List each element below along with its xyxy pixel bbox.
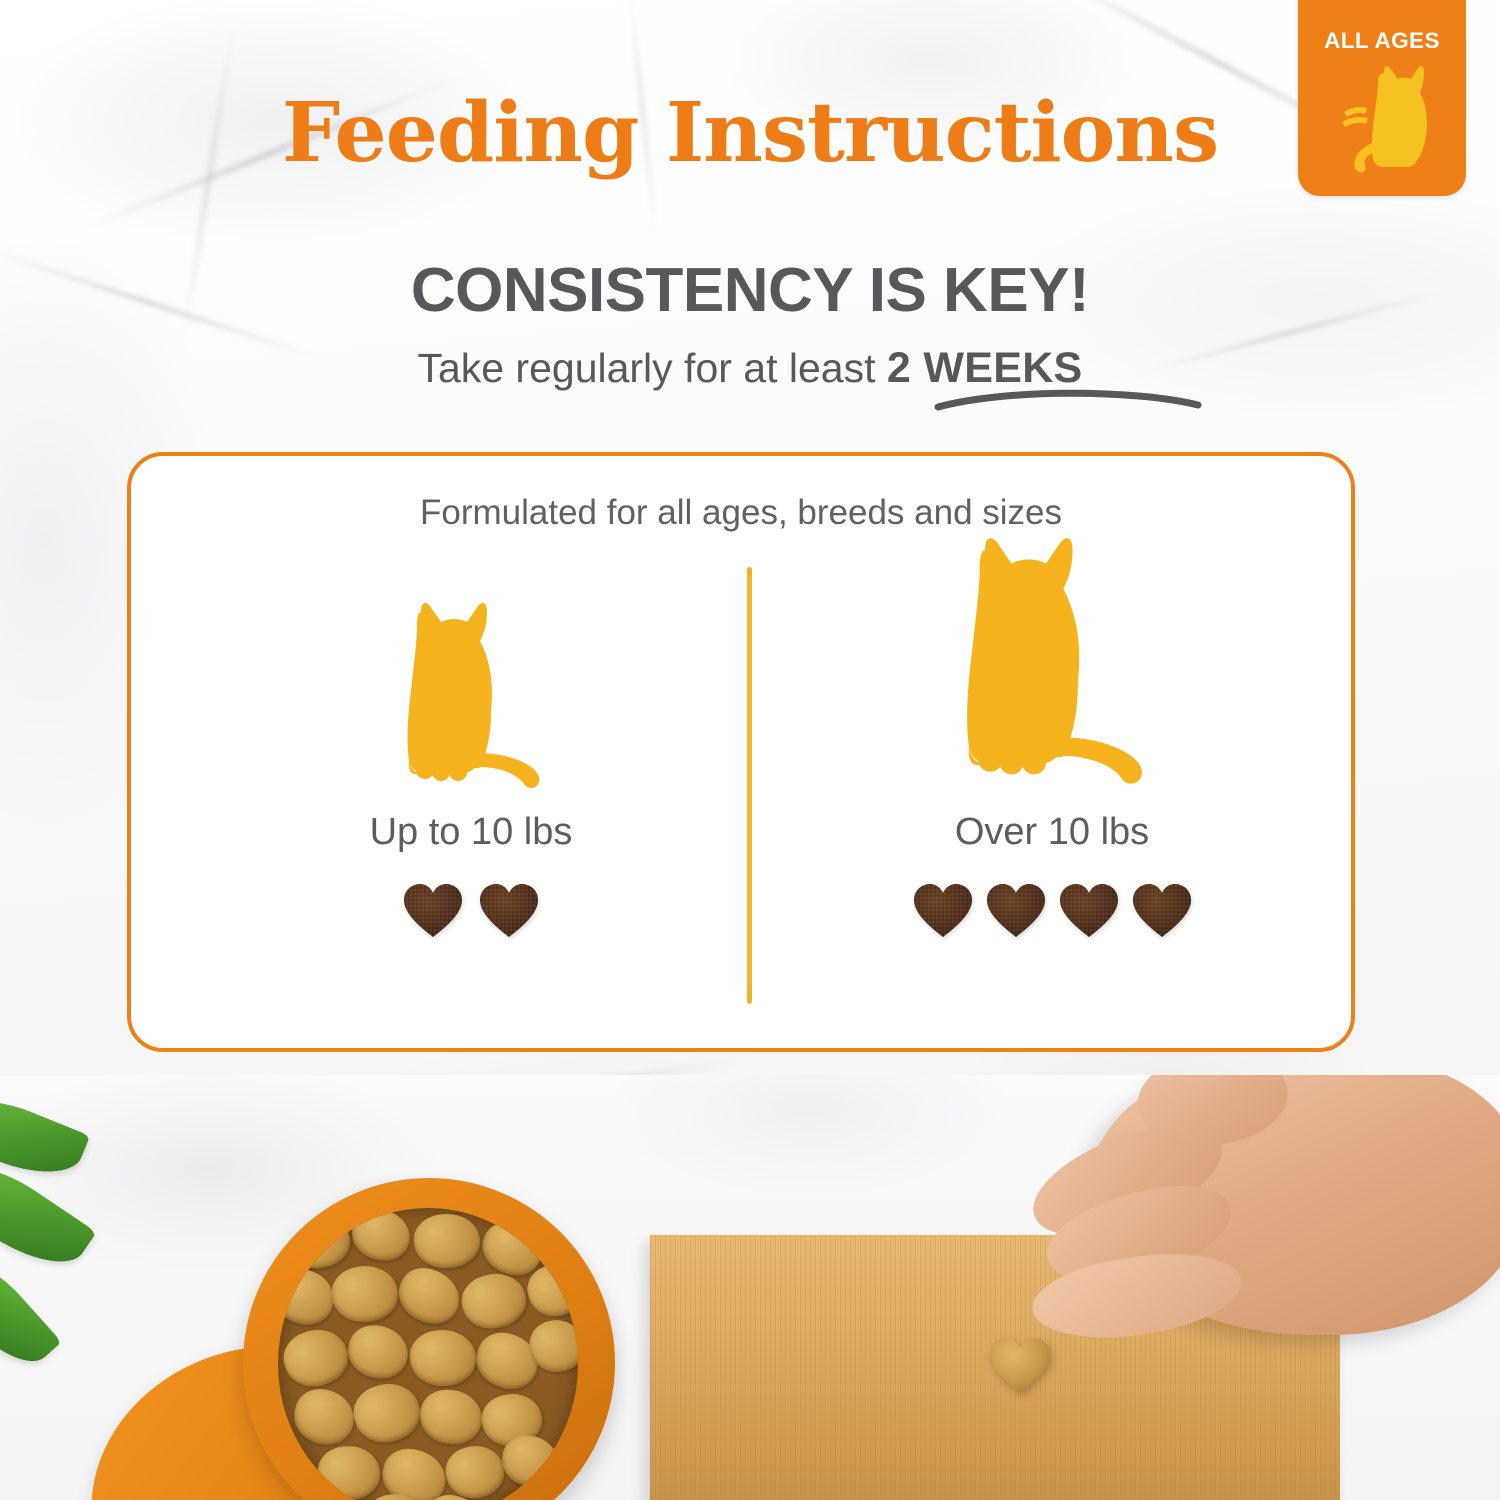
heart-kibble-icon [402,881,464,941]
heart-kibble-icon [985,881,1047,941]
feeding-instructions-infographic: ALL AGES Feeding Instructions CONSISTENC… [0,0,1500,1500]
subheadline-emphasis: 2 WEEKS [887,344,1083,392]
heart-kibble-icon [478,881,540,941]
heart-kibble-icon [912,881,974,941]
size-label-small: Up to 10 lbs [370,813,573,851]
held-heart-kibble-icon [988,1335,1052,1397]
headline: CONSISTENCY IS KEY! [0,258,1500,323]
subheadline-prefix: Take regularly for at least [417,345,886,391]
cat-icon-large [929,556,1175,801]
all-ages-badge-label: ALL AGES [1324,28,1440,54]
heart-kibble-icon [1131,881,1193,941]
bowl-kibble-pile [278,1208,578,1500]
heart-kibble-icon [1058,881,1120,941]
hand-holding-kibble [970,1075,1500,1445]
feeding-column-large-cat: Over 10 lbs [752,556,1352,941]
size-label-large: Over 10 lbs [955,813,1149,851]
kibble-row-large [912,881,1193,941]
feeding-chart-card: Formulated for all ages, breeds and size… [127,452,1355,1052]
card-caption: Formulated for all ages, breeds and size… [131,493,1351,533]
page-title: Feeding Instructions [0,92,1500,174]
feeding-column-small-cat: Up to 10 lbs [195,556,747,941]
cat-icon-small [379,556,564,801]
subheadline: Take regularly for at least 2 WEEKS [0,345,1500,392]
product-lifestyle-photo [0,1075,1500,1500]
kibble-row-small [402,881,540,941]
